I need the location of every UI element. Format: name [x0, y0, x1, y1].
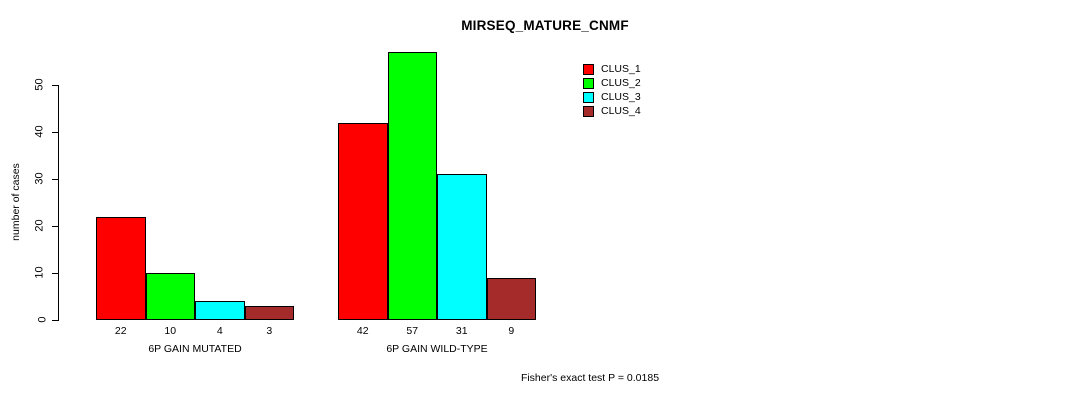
bar-value-label: 31: [437, 326, 487, 337]
bar-value-label: 42: [338, 326, 388, 337]
y-axis-tick: [52, 85, 58, 86]
legend-item-label: CLUS_1: [601, 64, 641, 75]
bar: [388, 52, 438, 320]
statistical-annotation: Fisher's exact test P = 0.0185: [0, 372, 1090, 384]
statistical-annotation-text: Fisher's exact test P = 0.0185: [521, 372, 659, 384]
legend-item: CLUS_1: [583, 62, 703, 76]
chart-title-text: MIRSEQ_MATURE_CNMF: [461, 18, 629, 33]
y-axis-tick: [52, 179, 58, 180]
y-axis-tick: [52, 273, 58, 274]
chart-canvas: MIRSEQ_MATURE_CNMF 01020304050 number of…: [0, 0, 1090, 400]
y-axis-tick-label-text: 0: [37, 316, 48, 322]
legend-color-swatch: [583, 64, 594, 75]
y-axis-tick-label: 20: [0, 220, 46, 231]
bar: [437, 174, 487, 320]
bar-value-label: 22: [96, 326, 146, 337]
legend: CLUS_1CLUS_2CLUS_3CLUS_4: [583, 62, 703, 118]
y-axis-tick-label: 30: [0, 173, 46, 184]
y-axis-tick-label: 0: [0, 314, 46, 325]
y-axis-tick-label-text: 30: [34, 172, 45, 184]
bar: [338, 123, 388, 320]
y-axis-tick-label-text: 40: [34, 125, 45, 137]
bar: [146, 273, 196, 320]
legend-item-label: CLUS_4: [601, 106, 641, 117]
y-axis-tick: [52, 320, 58, 321]
y-axis-tick: [52, 132, 58, 133]
chart-title: MIRSEQ_MATURE_CNMF: [0, 18, 1090, 33]
bar: [487, 278, 537, 320]
y-axis-tick-label-text: 10: [34, 266, 45, 278]
bar: [245, 306, 295, 320]
legend-item: CLUS_3: [583, 90, 703, 104]
bar-value-label: 3: [245, 326, 295, 337]
bar-value-label: 4: [195, 326, 245, 337]
legend-item-label: CLUS_3: [601, 92, 641, 103]
legend-item: CLUS_2: [583, 76, 703, 90]
legend-item-label: CLUS_2: [601, 78, 641, 89]
y-axis-tick-label: 40: [0, 126, 46, 137]
y-axis-line: [58, 85, 59, 321]
bar-value-label: 10: [146, 326, 196, 337]
bar: [96, 217, 146, 320]
y-axis-tick: [52, 226, 58, 227]
y-axis-title: number of cases: [10, 142, 22, 262]
legend-color-swatch: [583, 78, 594, 89]
y-axis-tick-label: 10: [0, 267, 46, 278]
y-axis-tick-label-text: 20: [34, 219, 45, 231]
y-axis-tick-label: 50: [0, 79, 46, 90]
bar-value-label: 9: [487, 326, 537, 337]
legend-color-swatch: [583, 106, 594, 117]
legend-item: CLUS_4: [583, 104, 703, 118]
y-axis-tick-label-text: 50: [34, 78, 45, 90]
group-axis-label: 6P GAIN WILD-TYPE: [338, 343, 536, 355]
group-axis-label: 6P GAIN MUTATED: [96, 343, 294, 355]
legend-color-swatch: [583, 92, 594, 103]
bar: [195, 301, 245, 320]
bar-value-label: 57: [388, 326, 438, 337]
